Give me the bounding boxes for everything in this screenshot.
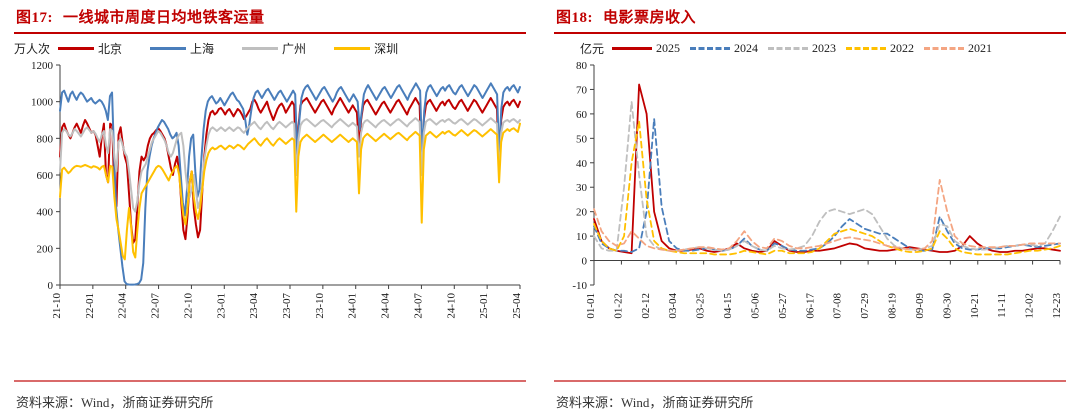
x-axis-tick-label: 25-01 — [478, 293, 490, 319]
figure-17-yaxis-unit: 万人次 — [14, 40, 50, 57]
legend-item-2021[interactable]: 2021 — [924, 41, 992, 56]
series-line-2024 — [594, 119, 1060, 252]
legend-swatch-2025 — [612, 47, 652, 50]
x-axis-tick-label: 23-04 — [248, 293, 260, 319]
legend-swatch-2022 — [846, 47, 886, 50]
legend-label-2023: 2023 — [812, 41, 836, 56]
x-axis-tick-label: 02-12 — [640, 293, 652, 319]
x-axis-tick-label: 12-23 — [1051, 293, 1063, 319]
x-axis-tick-label: 23-01 — [215, 293, 227, 319]
x-axis-tick-label: 06-17 — [804, 293, 816, 319]
legend-item-2025[interactable]: 2025 — [612, 41, 680, 56]
y-axis-tick-label: 50 — [576, 133, 588, 145]
figure-18-title-text: 电影票房收入 — [603, 10, 696, 26]
legend-swatch-guangzhou — [242, 47, 278, 50]
y-axis-tick-label: 1000 — [31, 97, 54, 109]
y-axis-tick-label: -10 — [572, 280, 587, 292]
series-line-2025 — [594, 85, 1060, 254]
series-line-2022 — [594, 121, 1060, 254]
x-axis-tick-label: 07-29 — [859, 293, 871, 319]
y-axis-tick-label: 600 — [37, 170, 54, 182]
y-axis-tick-label: 0 — [582, 256, 588, 268]
subway-chart-svg: 02004006008001000120021-1022-0122-0422-0… — [14, 57, 526, 357]
boxoffice-chart-svg: -100102030405060708001-0101-2202-1203-04… — [554, 57, 1066, 357]
figure-18-number: 图18: — [556, 10, 593, 26]
legend-label-2025: 2025 — [656, 41, 680, 56]
legend-item-2024[interactable]: 2024 — [690, 41, 758, 56]
y-axis-tick-label: 60 — [576, 109, 588, 121]
y-axis-tick-label: 80 — [576, 60, 588, 72]
figure-17-legend: 万人次 北京 上海 广州 深圳 — [14, 34, 526, 57]
legend-item-shenzhen[interactable]: 深圳 — [334, 40, 398, 57]
x-axis-tick-label: 23-10 — [314, 293, 326, 319]
legend-label-guangzhou: 广州 — [282, 40, 306, 57]
x-axis-tick-label: 08-19 — [887, 293, 899, 319]
y-axis-tick-label: 20 — [576, 207, 588, 219]
x-axis-tick-label: 24-10 — [445, 293, 457, 319]
x-axis-tick-label: 03-04 — [667, 293, 679, 319]
legend-swatch-shanghai — [150, 47, 186, 50]
figure-17-plot: 02004006008001000120021-1022-0122-0422-0… — [14, 57, 526, 375]
figure-17-bottom-rule — [14, 380, 526, 382]
x-axis-tick-label: 05-06 — [749, 293, 761, 319]
x-axis-tick-label: 24-04 — [380, 293, 392, 319]
x-axis-tick-label: 22-01 — [84, 293, 96, 319]
x-axis-tick-label: 25-04 — [511, 293, 523, 319]
y-axis-tick-label: 0 — [48, 280, 54, 292]
legend-swatch-2024 — [690, 47, 730, 50]
x-axis-tick-label: 22-07 — [150, 293, 162, 319]
legend-swatch-2023 — [768, 47, 808, 50]
x-axis-tick-label: 05-27 — [777, 293, 789, 319]
figure-18-bottom-rule — [554, 380, 1066, 382]
x-axis-tick-label: 11-11 — [996, 293, 1008, 318]
legend-swatch-shenzhen — [334, 47, 370, 50]
figure-18-plot: -100102030405060708001-0101-2202-1203-04… — [554, 57, 1066, 375]
panel-figure-18: 图18:电影票房收入 亿元 2025 2024 2023 2022 — [540, 0, 1080, 419]
legend-swatch-2021 — [924, 47, 964, 50]
x-axis-tick-label: 09-09 — [914, 293, 926, 319]
y-axis-tick-label: 1200 — [31, 60, 54, 72]
figure-18-yaxis-unit: 亿元 — [580, 40, 604, 57]
legend-label-shenzhen: 深圳 — [374, 40, 398, 57]
legend-item-guangzhou[interactable]: 广州 — [242, 40, 306, 57]
figure-17-title-text: 一线城市周度日均地铁客运量 — [63, 10, 265, 26]
figure-17-title: 图17:一线城市周度日均地铁客运量 — [14, 0, 526, 32]
legend-swatch-beijing — [58, 47, 94, 50]
y-axis-tick-label: 30 — [576, 182, 588, 194]
panel-figure-17: 图17:一线城市周度日均地铁客运量 万人次 北京 上海 广州 深圳 — [0, 0, 540, 419]
y-axis-tick-label: 200 — [37, 243, 54, 255]
figure-18-source: 资料来源：Wind，浙商证券研究所 — [556, 392, 753, 411]
x-axis-tick-label: 24-07 — [412, 293, 424, 319]
legend-label-2024: 2024 — [734, 41, 758, 56]
y-axis-tick-label: 400 — [37, 207, 54, 219]
legend-label-shanghai: 上海 — [190, 40, 214, 57]
series-line-2023 — [594, 102, 1060, 251]
figure-17-source: 资料来源：Wind，浙商证券研究所 — [16, 392, 213, 411]
y-axis-tick-label: 10 — [576, 231, 588, 243]
x-axis-tick-label: 24-01 — [347, 293, 359, 319]
y-axis-tick-label: 800 — [37, 133, 54, 145]
x-axis-tick-label: 21-10 — [51, 293, 63, 319]
legend-item-shanghai[interactable]: 上海 — [150, 40, 214, 57]
figure-page: 图17:一线城市周度日均地铁客运量 万人次 北京 上海 广州 深圳 — [0, 0, 1080, 419]
y-axis-tick-label: 70 — [576, 84, 588, 96]
legend-label-2021: 2021 — [968, 41, 992, 56]
x-axis-tick-label: 01-22 — [612, 293, 624, 319]
x-axis-tick-label: 01-01 — [585, 293, 597, 319]
x-axis-tick-label: 07-08 — [832, 293, 844, 319]
figure-18-legend: 亿元 2025 2024 2023 2022 2 — [554, 34, 1066, 57]
figure-17-number: 图17: — [16, 10, 53, 26]
x-axis-tick-label: 10-21 — [969, 293, 981, 319]
x-axis-tick-label: 04-15 — [722, 293, 734, 319]
x-axis-tick-label: 03-25 — [695, 293, 707, 319]
legend-item-2022[interactable]: 2022 — [846, 41, 914, 56]
x-axis-tick-label: 12-02 — [1024, 293, 1036, 319]
x-axis-tick-label: 22-10 — [182, 293, 194, 319]
legend-label-beijing: 北京 — [98, 40, 122, 57]
x-axis-tick-label: 22-04 — [117, 293, 129, 319]
legend-item-2023[interactable]: 2023 — [768, 41, 836, 56]
x-axis-tick-label: 09-30 — [941, 293, 953, 319]
figure-18-title: 图18:电影票房收入 — [554, 0, 1066, 32]
legend-item-beijing[interactable]: 北京 — [58, 40, 122, 57]
x-axis-tick-label: 23-07 — [281, 293, 293, 319]
y-axis-tick-label: 40 — [576, 158, 588, 170]
legend-label-2022: 2022 — [890, 41, 914, 56]
